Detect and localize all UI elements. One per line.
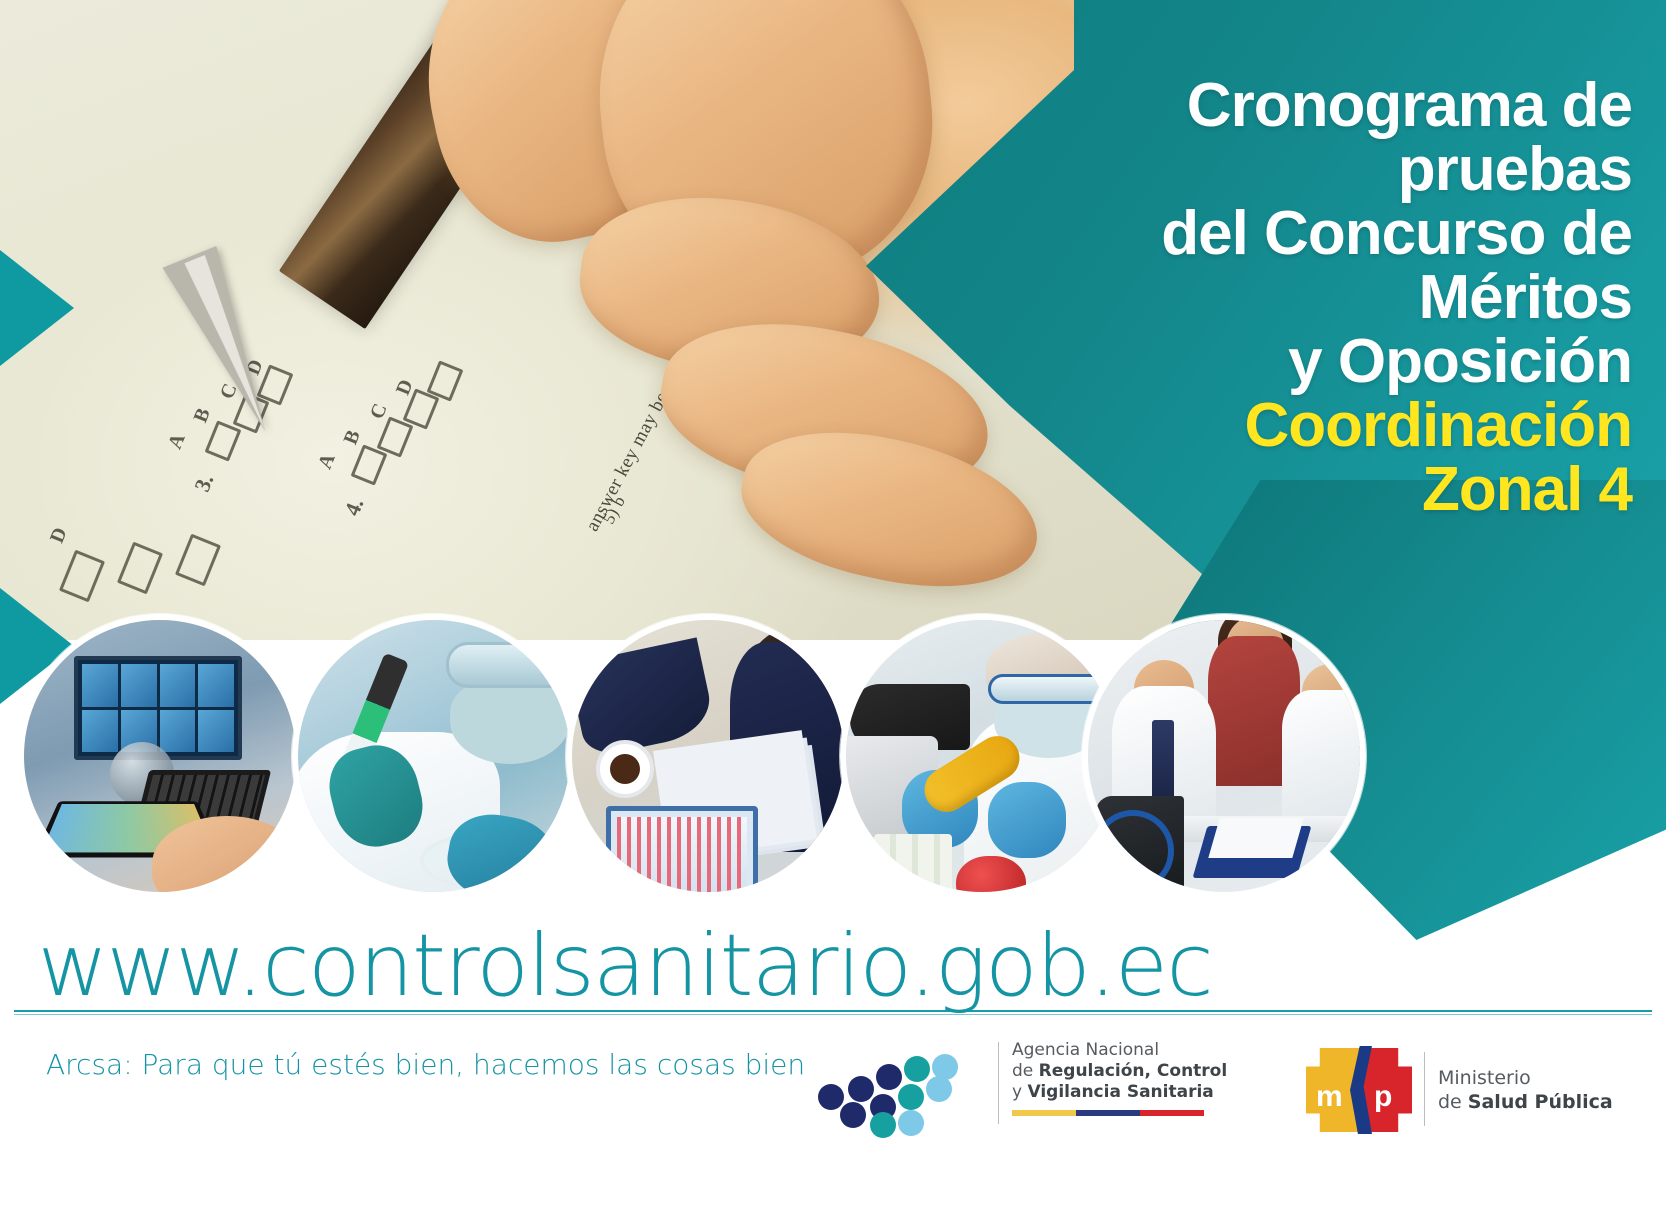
safety-goggles-shape — [446, 642, 572, 688]
answer-checkbox — [117, 542, 163, 595]
title-line-5: y Oposición — [872, 330, 1632, 394]
msp-logo: m p Ministerio de Salud Pública — [1300, 1032, 1600, 1142]
photo-circle-tech-tablet-in-hand — [18, 614, 302, 898]
laptop-icon — [606, 806, 758, 898]
title-line-1: Cronograma de — [872, 74, 1632, 138]
msp-logo-text: Ministerio de Salud Pública — [1438, 1066, 1613, 1114]
answer-row-number: 4. — [339, 494, 369, 519]
test-tubes-icon — [874, 834, 952, 898]
red-pepper-icon — [956, 856, 1026, 898]
msp-line-2-bold: Salud Pública — [1468, 1091, 1613, 1113]
glove-shape — [988, 782, 1066, 858]
photo-circle-strip — [0, 612, 1400, 912]
arrow-right-icon — [0, 250, 74, 366]
tagline: Arcsa: Para que tú estés bien, hacemos l… — [46, 1048, 805, 1081]
msp-letter-p: p — [1374, 1082, 1392, 1112]
coffee-cup-icon — [596, 740, 654, 798]
website-url[interactable]: www.controlsanitario.gob.ec — [0, 916, 1250, 1016]
answer-option-label: B — [190, 405, 216, 426]
answer-option-label: A — [314, 450, 341, 472]
open-palm-shape — [152, 816, 302, 898]
title-line-3: del Concurso de — [872, 202, 1632, 266]
title-accent-line-2: Zonal 4 — [872, 458, 1632, 522]
poster-title: Cronograma de pruebas del Concurso de Mé… — [872, 74, 1632, 522]
arcsa-line-3-prefix: y — [1012, 1082, 1027, 1102]
laptop-icon — [74, 656, 242, 760]
photo-circle-office-team-inclusive-workplace — [1082, 614, 1366, 898]
msp-line-2-prefix: de — [1438, 1091, 1468, 1113]
title-accent-line-1: Coordinación — [872, 394, 1632, 458]
arcsa-dots-mark-icon — [818, 1054, 988, 1128]
face-mask-shape — [450, 678, 570, 764]
msp-cross-mark-icon: m p — [1306, 1048, 1412, 1132]
arcsa-line-1: Agencia Nacional — [1012, 1040, 1212, 1061]
photo-circle-lab-technician-pipette — [292, 614, 576, 898]
suit-sleeve-shape — [567, 637, 716, 758]
answer-row-number: 3. — [189, 470, 219, 495]
ecuador-flag-bar-icon — [1012, 1110, 1204, 1116]
arcsa-line-2-prefix: de — [1012, 1061, 1039, 1081]
msp-line-2: de Salud Pública — [1438, 1090, 1613, 1114]
arcsa-line-3: y Vigilancia Sanitaria — [1012, 1082, 1212, 1103]
microscope-icon — [850, 684, 970, 750]
title-line-4: Méritos — [872, 266, 1632, 330]
logo-divider — [1424, 1052, 1425, 1126]
answer-checkbox — [351, 444, 388, 485]
logo-divider — [998, 1042, 999, 1124]
msp-line-1: Ministerio — [1438, 1066, 1613, 1090]
arcsa-line-3-bold: Vigilancia Sanitaria — [1027, 1082, 1213, 1102]
person-shape — [1282, 690, 1366, 820]
wheelchair-icon — [1096, 796, 1184, 898]
title-line-2: pruebas — [872, 138, 1632, 202]
necktie-shape — [1152, 720, 1174, 804]
folder-icon — [1193, 826, 1312, 878]
arcsa-logo: Agencia Nacional de Regulación, Control … — [800, 1032, 1120, 1142]
arcsa-line-2-bold: Regulación, Control — [1039, 1061, 1228, 1081]
answer-option-label: D — [46, 524, 73, 546]
arcsa-line-2: de Regulación, Control — [1012, 1061, 1212, 1082]
arcsa-logo-text: Agencia Nacional de Regulación, Control … — [1012, 1040, 1212, 1103]
msp-letter-m: m — [1316, 1082, 1343, 1112]
answer-checkbox — [175, 534, 221, 587]
answer-option-label: A — [164, 430, 191, 452]
photo-circle-office-meeting-laptop — [566, 614, 850, 898]
poster-canvas: A B C D 3. A B C D 4. answer key may be … — [0, 0, 1666, 1224]
